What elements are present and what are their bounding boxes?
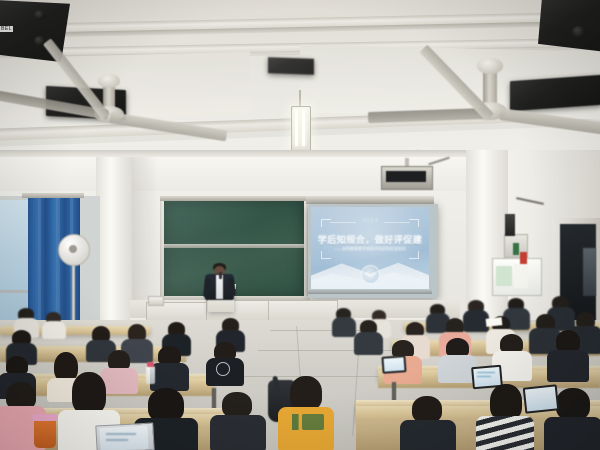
student-body — [544, 417, 600, 450]
tablet-screen-2 — [384, 357, 405, 371]
notice-sheet-white — [514, 264, 528, 288]
student-hair — [108, 350, 130, 370]
slide-corner-br — [409, 251, 419, 259]
paper-sheet-right — [486, 317, 503, 327]
stage-equipment-box — [148, 296, 164, 306]
student-hair — [490, 384, 522, 420]
tablet-screen-1-text2 — [477, 376, 491, 377]
light-tube-center-2 — [302, 110, 305, 146]
speaker-brand-label-left: BEL — [0, 26, 13, 32]
slide-tagline: 评估宣讲 — [311, 218, 429, 224]
laptop-screen-text-2 — [106, 439, 128, 441]
light-fixture-center — [291, 106, 311, 152]
student-r4-8-shirt-graphic2 — [302, 414, 324, 430]
ceiling-vent-center — [268, 57, 314, 75]
screen-roller-housing — [306, 196, 434, 204]
tablet-screen-foreground — [525, 386, 557, 411]
wall-switch-red — [520, 252, 527, 264]
student-r3-5-logo — [216, 362, 230, 376]
wall-control-box — [513, 243, 519, 255]
wall-fan-hub — [69, 245, 77, 253]
student-body — [400, 420, 456, 450]
wall-shade-left — [132, 157, 158, 317]
door-glass-panel — [583, 248, 596, 296]
ceiling-fan-front-right-mount — [477, 58, 503, 74]
tablet-screen-1-text — [477, 372, 495, 373]
student-body — [547, 350, 589, 382]
water-bottle-left — [146, 366, 155, 384]
curtain-rail — [22, 193, 84, 198]
ceiling-fan-front-right-stem — [483, 70, 497, 106]
student-body — [476, 416, 534, 450]
student-hair — [412, 396, 442, 423]
speaker-driver-right-1 — [572, 26, 585, 38]
laptop-screen-foreground — [99, 426, 148, 450]
ceiling-fan-front-left-mount — [98, 74, 120, 88]
light-tube-center-1 — [295, 110, 298, 146]
orange-cup — [34, 418, 56, 448]
curtain-fold-2 — [56, 197, 60, 329]
lecture-hall-photo: BEL — [0, 0, 600, 450]
wall-pillar-right — [466, 150, 508, 325]
blackboard-top-rail — [160, 196, 308, 201]
student-hair — [556, 330, 580, 352]
projection-screen: 评估宣讲 学后知规合，做好评促建 ——本科教育教学审核评估应知应会知识 — [308, 204, 438, 298]
projector-lens — [386, 171, 426, 182]
laptop-screen-text-1 — [106, 433, 136, 435]
ceiling-vent-right — [510, 75, 600, 111]
slide-title: 学后知规合，做好评促建 — [311, 233, 429, 246]
student-body — [42, 321, 66, 339]
presenter-microphone: microphone — [219, 272, 222, 279]
blackboard-divider-rail — [164, 244, 304, 248]
speaker-driver-left-1 — [34, 10, 45, 20]
wall-mounted-box-right — [505, 214, 515, 236]
notice-sheet-green — [496, 266, 512, 286]
student-body — [150, 363, 189, 391]
wall-fan-pole — [72, 255, 75, 329]
orange-cup-lid — [32, 414, 58, 421]
slide-corner-bl — [321, 251, 331, 259]
student-hair — [290, 376, 322, 410]
curtain-fold-1 — [38, 197, 41, 329]
wall-pillar-left — [96, 157, 132, 322]
student-hair — [72, 372, 106, 414]
water-bottle-cap-left — [147, 362, 154, 367]
student-body — [332, 317, 356, 337]
tablet-screen-1 — [473, 367, 500, 387]
presentation-slide: 评估宣讲 学后知规合，做好评促建 ——本科教育教学审核评估应知应会知识 — [311, 207, 429, 289]
screen-bottom-bar — [308, 290, 432, 294]
student-hair — [148, 388, 184, 422]
slide-logo-emblem — [361, 265, 380, 284]
student-body — [354, 332, 383, 355]
slide-subtitle: ——本科教育教学审核评估应知应会知识 — [311, 246, 429, 252]
floor-tile-line-2 — [258, 350, 408, 351]
student-hair — [556, 388, 590, 420]
student-body — [210, 415, 266, 450]
light-fixture-center-rod — [299, 90, 301, 106]
